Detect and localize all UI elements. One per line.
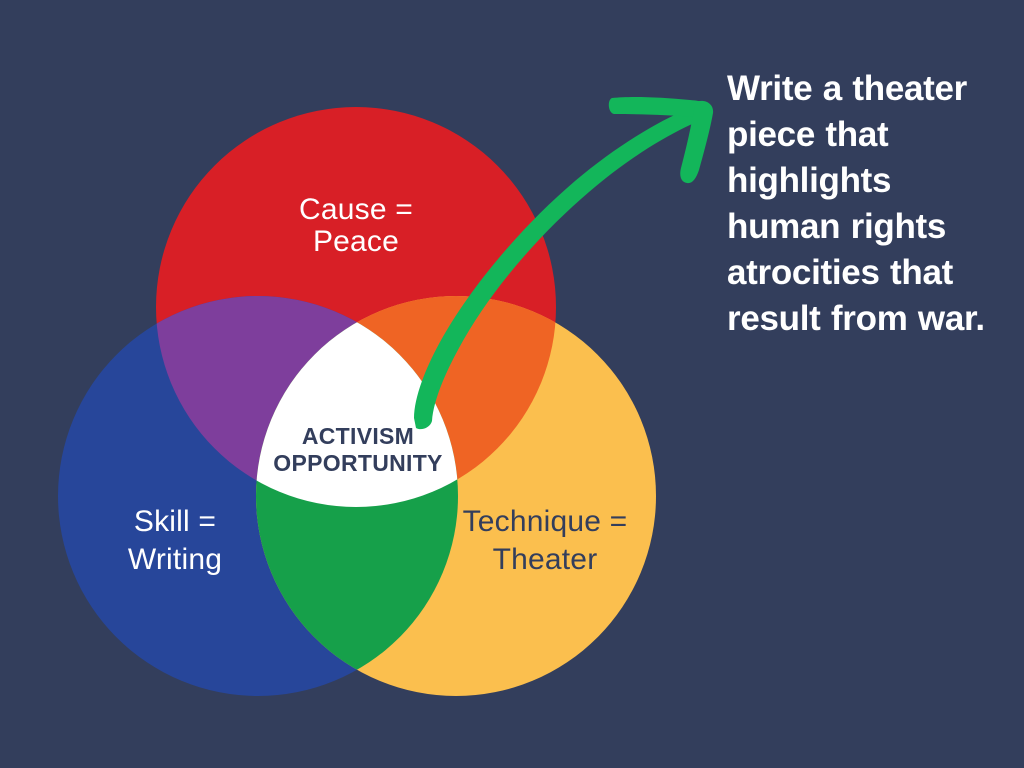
venn-label-cause-line1: Cause = xyxy=(299,193,413,226)
venn-label-technique-line1: Technique = xyxy=(463,505,628,538)
annotation-text: Write a theater piece that highlights hu… xyxy=(727,66,1013,342)
venn-label-cause-line2: Peace xyxy=(313,225,399,258)
slide-canvas: Cause = Peace Skill = Writing Technique … xyxy=(0,0,1024,768)
venn-label-skill-line1: Skill = xyxy=(134,505,216,538)
venn-label-technique-line2: Theater xyxy=(493,543,598,576)
venn-label-skill-line2: Writing xyxy=(128,543,222,576)
venn-center-label-line1: ACTIVISM xyxy=(302,423,414,449)
venn-center-label-line2: OPPORTUNITY xyxy=(273,450,442,476)
